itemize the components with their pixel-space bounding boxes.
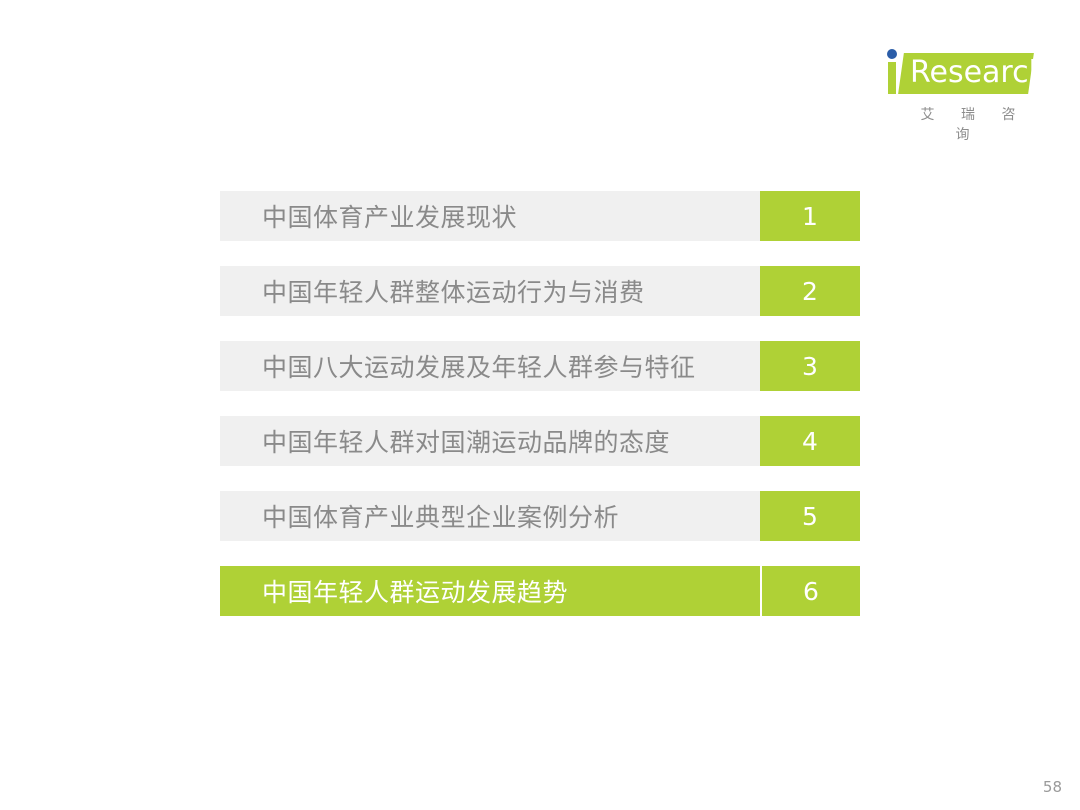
agenda-item-label: 中国体育产业典型企业案例分析 xyxy=(220,491,760,541)
agenda-item-number: 1 xyxy=(760,191,860,241)
logo-i-dot-icon xyxy=(887,49,897,59)
agenda-item-number: 4 xyxy=(760,416,860,466)
agenda-item-number: 2 xyxy=(760,266,860,316)
agenda-item-5[interactable]: 中国体育产业典型企业案例分析 5 xyxy=(220,491,860,541)
logo-i-stem-icon xyxy=(888,62,896,94)
logo-wordmark: Research xyxy=(910,56,1040,90)
page-number: 58 xyxy=(1043,778,1062,796)
agenda-item-number: 3 xyxy=(760,341,860,391)
agenda-item-number: 6 xyxy=(760,566,860,616)
agenda-list: 中国体育产业发展现状 1 中国年轻人群整体运动行为与消费 2 中国八大运动发展及… xyxy=(220,191,860,616)
iresearch-logo: Research 艾 瑞 咨 询 xyxy=(884,48,1044,128)
agenda-item-label: 中国年轻人群运动发展趋势 xyxy=(220,566,760,616)
logo-mark: Research xyxy=(884,48,1044,100)
agenda-item-4[interactable]: 中国年轻人群对国潮运动品牌的态度 4 xyxy=(220,416,860,466)
agenda-item-number: 5 xyxy=(760,491,860,541)
logo-subtitle: 艾 瑞 咨 询 xyxy=(892,104,1044,144)
agenda-item-label: 中国年轻人群对国潮运动品牌的态度 xyxy=(220,416,760,466)
agenda-item-1[interactable]: 中国体育产业发展现状 1 xyxy=(220,191,860,241)
agenda-item-label: 中国年轻人群整体运动行为与消费 xyxy=(220,266,760,316)
agenda-item-2[interactable]: 中国年轻人群整体运动行为与消费 2 xyxy=(220,266,860,316)
agenda-item-label: 中国体育产业发展现状 xyxy=(220,191,760,241)
agenda-item-label: 中国八大运动发展及年轻人群参与特征 xyxy=(220,341,760,391)
slide-page: { "brand": { "logo_word": "Research", "l… xyxy=(0,0,1080,810)
agenda-item-6[interactable]: 中国年轻人群运动发展趋势 6 xyxy=(220,566,860,616)
agenda-item-3[interactable]: 中国八大运动发展及年轻人群参与特征 3 xyxy=(220,341,860,391)
